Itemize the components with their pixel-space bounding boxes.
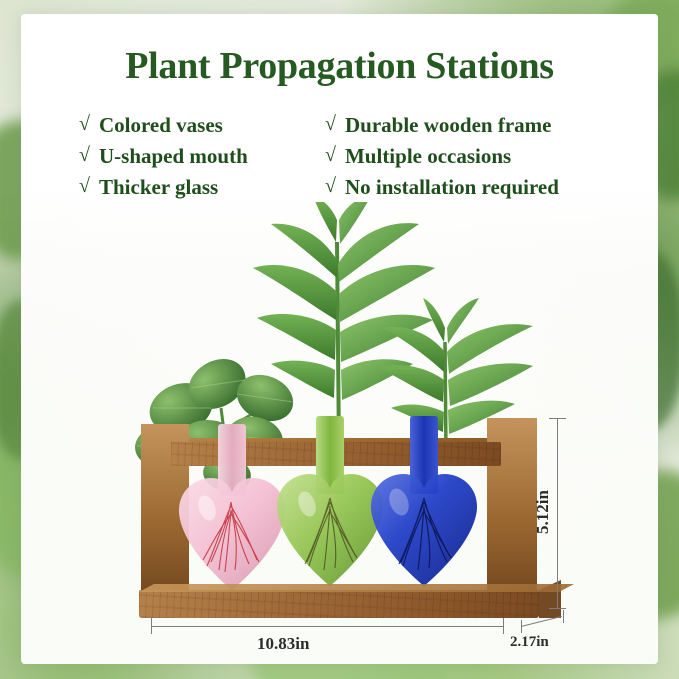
depth-tick-left [521, 620, 522, 633]
feature-item-6: √ No installation required [325, 172, 619, 203]
feature-label: Durable wooden frame [345, 113, 551, 138]
height-tick-bottom [549, 608, 566, 609]
product-photo: 10.83in 5.12in 2.17in [21, 202, 658, 664]
feature-label: U-shaped mouth [99, 144, 248, 169]
check-icon: √ [325, 113, 336, 136]
feature-item-5: √ Thicker glass [79, 172, 311, 203]
height-tick-top [549, 418, 566, 419]
depth-tick-right [563, 610, 564, 623]
width-tick-left [151, 618, 152, 634]
depth-dimension-label: 2.17in [510, 634, 549, 651]
wood-grain [139, 590, 539, 618]
feature-label: Multiple occasions [345, 144, 511, 169]
pink-heart-vase [179, 478, 285, 590]
green-heart-vase [277, 474, 383, 586]
feature-item-2: √ Durable wooden frame [325, 110, 619, 141]
stand-base [139, 590, 539, 618]
feature-label: No installation required [345, 175, 559, 200]
check-icon: √ [79, 175, 90, 198]
height-dimension-label: 5.12in [533, 482, 553, 542]
feature-label: Thicker glass [99, 175, 218, 200]
product-infographic: Plant Propagation Stations √ Colored vas… [0, 0, 679, 679]
stand-base-top [139, 584, 574, 592]
feature-item-3: √ U-shaped mouth [79, 141, 311, 172]
height-dimension-line [557, 418, 558, 608]
width-dimension-label: 10.83in [257, 634, 309, 654]
width-tick-right [503, 618, 504, 634]
feature-list: √ Colored vases √ Durable wooden frame √… [79, 110, 619, 203]
check-icon: √ [325, 175, 336, 198]
check-icon: √ [325, 144, 336, 167]
feature-item-4: √ Multiple occasions [325, 141, 619, 172]
check-icon: √ [79, 113, 90, 136]
width-dimension-line [151, 626, 503, 627]
feature-item-1: √ Colored vases [79, 110, 311, 141]
content-card: Plant Propagation Stations √ Colored vas… [21, 14, 658, 664]
feature-label: Colored vases [99, 113, 223, 138]
page-title: Plant Propagation Stations [21, 44, 658, 88]
blue-heart-vase [371, 474, 477, 586]
check-icon: √ [79, 144, 90, 167]
